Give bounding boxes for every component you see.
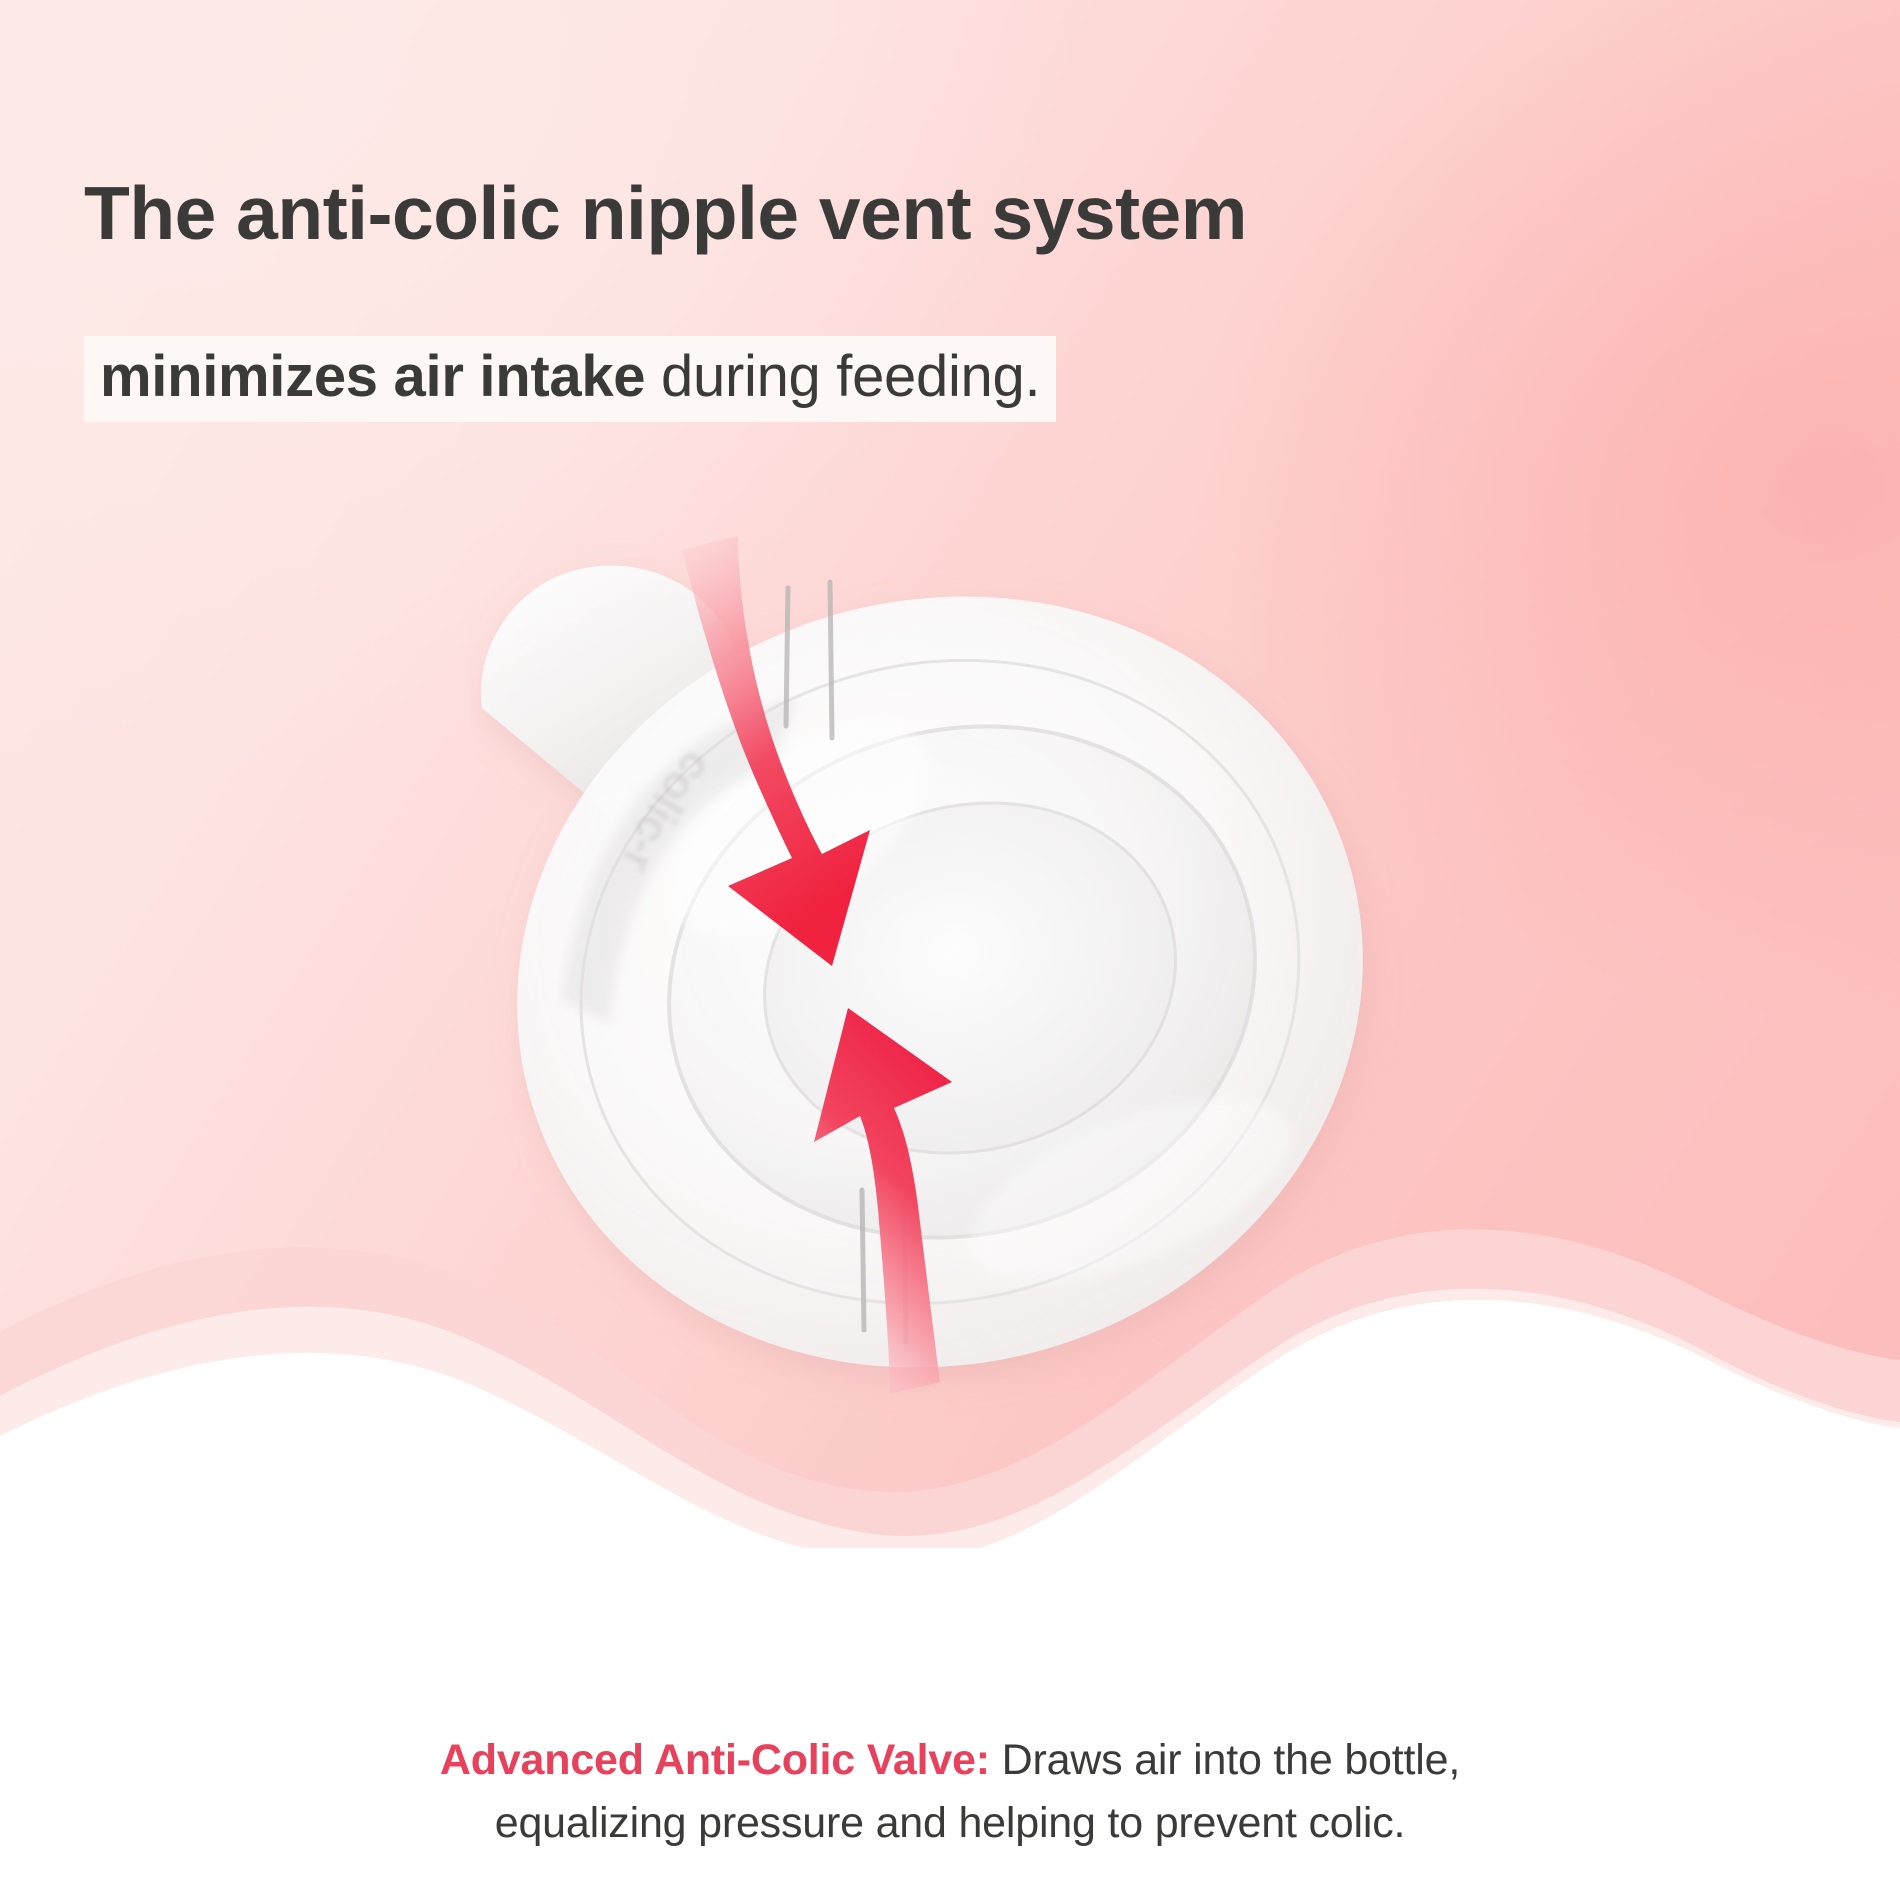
caption-line-1: Advanced Anti-Colic Valve: Draws air int… [0, 1729, 1900, 1791]
wave-decoration [0, 1160, 1900, 1560]
subtitle-rest: during feeding. [645, 344, 1040, 409]
caption-accent: Advanced Anti-Colic Valve: [440, 1736, 990, 1784]
infographic-page: colic-r [0, 0, 1900, 1900]
caption-line-2: equalizing pressure and helping to preve… [0, 1792, 1900, 1854]
subtitle-highlight-band: minimizes air intake during feeding. [84, 336, 1056, 422]
subtitle-bold: minimizes air intake [100, 344, 645, 409]
page-title: The anti-colic nipple vent system [84, 176, 1247, 251]
caption-line-1-rest: Draws air into the bottle, [990, 1736, 1460, 1784]
caption: Advanced Anti-Colic Valve: Draws air int… [0, 1729, 1900, 1854]
subtitle: minimizes air intake during feeding. [100, 348, 1040, 406]
